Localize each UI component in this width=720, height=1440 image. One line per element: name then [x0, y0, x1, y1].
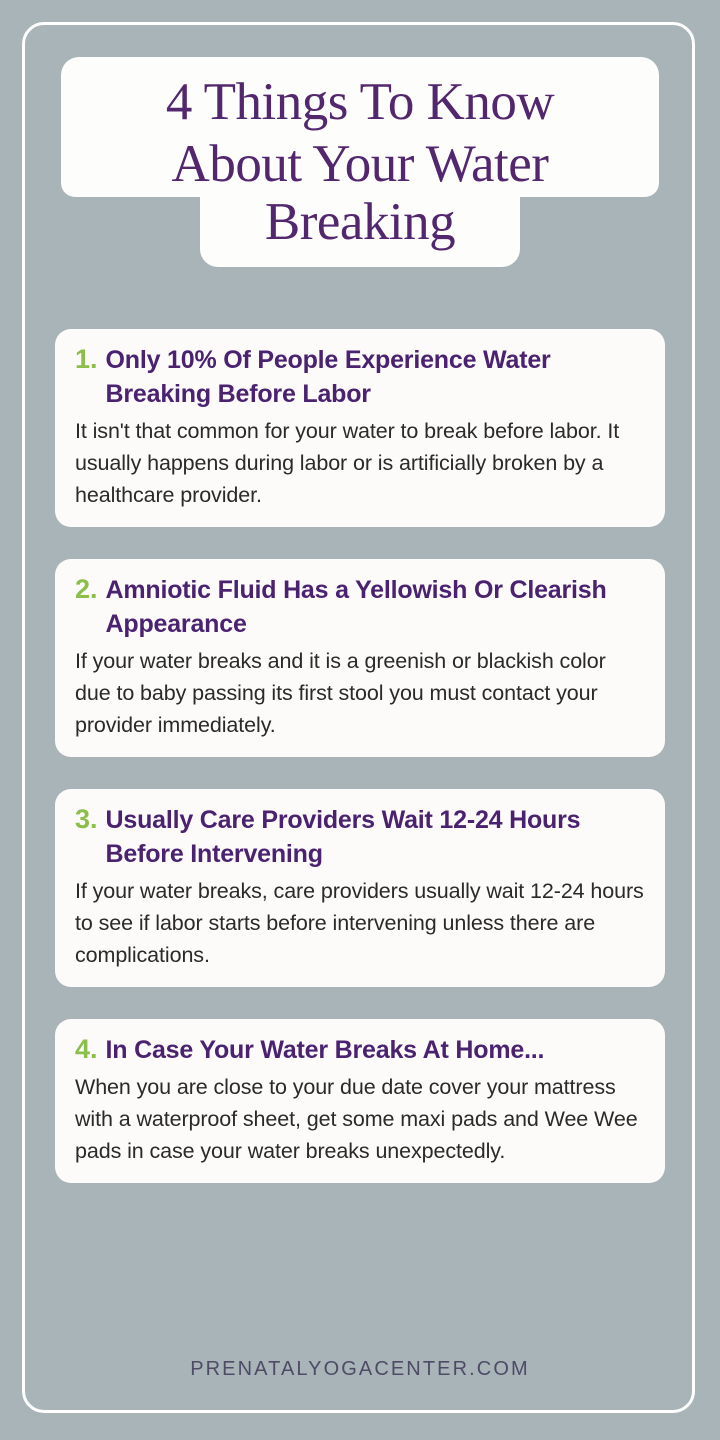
- title-line-1: 4 Things To Know: [81, 71, 639, 133]
- tip-card-header: 3. Usually Care Providers Wait 12-24 Hou…: [75, 803, 645, 871]
- tip-card-header: 2. Amniotic Fluid Has a Yellowish Or Cle…: [75, 573, 645, 641]
- tip-card-header: 1. Only 10% Of People Experience Water B…: [75, 343, 645, 411]
- title-panel-lower: Breaking: [200, 191, 520, 267]
- tip-card: 3. Usually Care Providers Wait 12-24 Hou…: [55, 789, 665, 987]
- infographic-page: 4 Things To Know About Your Water Breaki…: [0, 0, 720, 1440]
- tip-heading: In Case Your Water Breaks At Home...: [106, 1033, 645, 1067]
- tip-heading: Only 10% Of People Experience Water Brea…: [106, 343, 645, 411]
- title-panel-upper: 4 Things To Know About Your Water: [61, 57, 659, 197]
- tip-body: If your water breaks, care providers usu…: [75, 875, 645, 971]
- tip-body: If your water breaks and it is a greenis…: [75, 645, 645, 741]
- footer-website: PRENATALYOGACENTER.COM: [0, 1358, 720, 1381]
- tip-number: 3.: [75, 803, 106, 836]
- tip-body: When you are close to your due date cove…: [75, 1071, 645, 1167]
- title-line-3: Breaking: [216, 191, 504, 253]
- tip-card: 2. Amniotic Fluid Has a Yellowish Or Cle…: [55, 559, 665, 757]
- tip-number: 1.: [75, 343, 106, 376]
- tip-heading: Amniotic Fluid Has a Yellowish Or Cleari…: [106, 573, 645, 641]
- title-block: 4 Things To Know About Your Water Breaki…: [0, 57, 720, 267]
- title-line-2: About Your Water: [81, 133, 639, 195]
- tips-card-list: 1. Only 10% Of People Experience Water B…: [55, 329, 665, 1215]
- tip-card: 4. In Case Your Water Breaks At Home... …: [55, 1019, 665, 1183]
- tip-card-header: 4. In Case Your Water Breaks At Home...: [75, 1033, 645, 1067]
- tip-card: 1. Only 10% Of People Experience Water B…: [55, 329, 665, 527]
- tip-body: It isn't that common for your water to b…: [75, 415, 645, 511]
- tip-number: 2.: [75, 573, 106, 606]
- tip-number: 4.: [75, 1033, 106, 1066]
- tip-heading: Usually Care Providers Wait 12-24 Hours …: [106, 803, 645, 871]
